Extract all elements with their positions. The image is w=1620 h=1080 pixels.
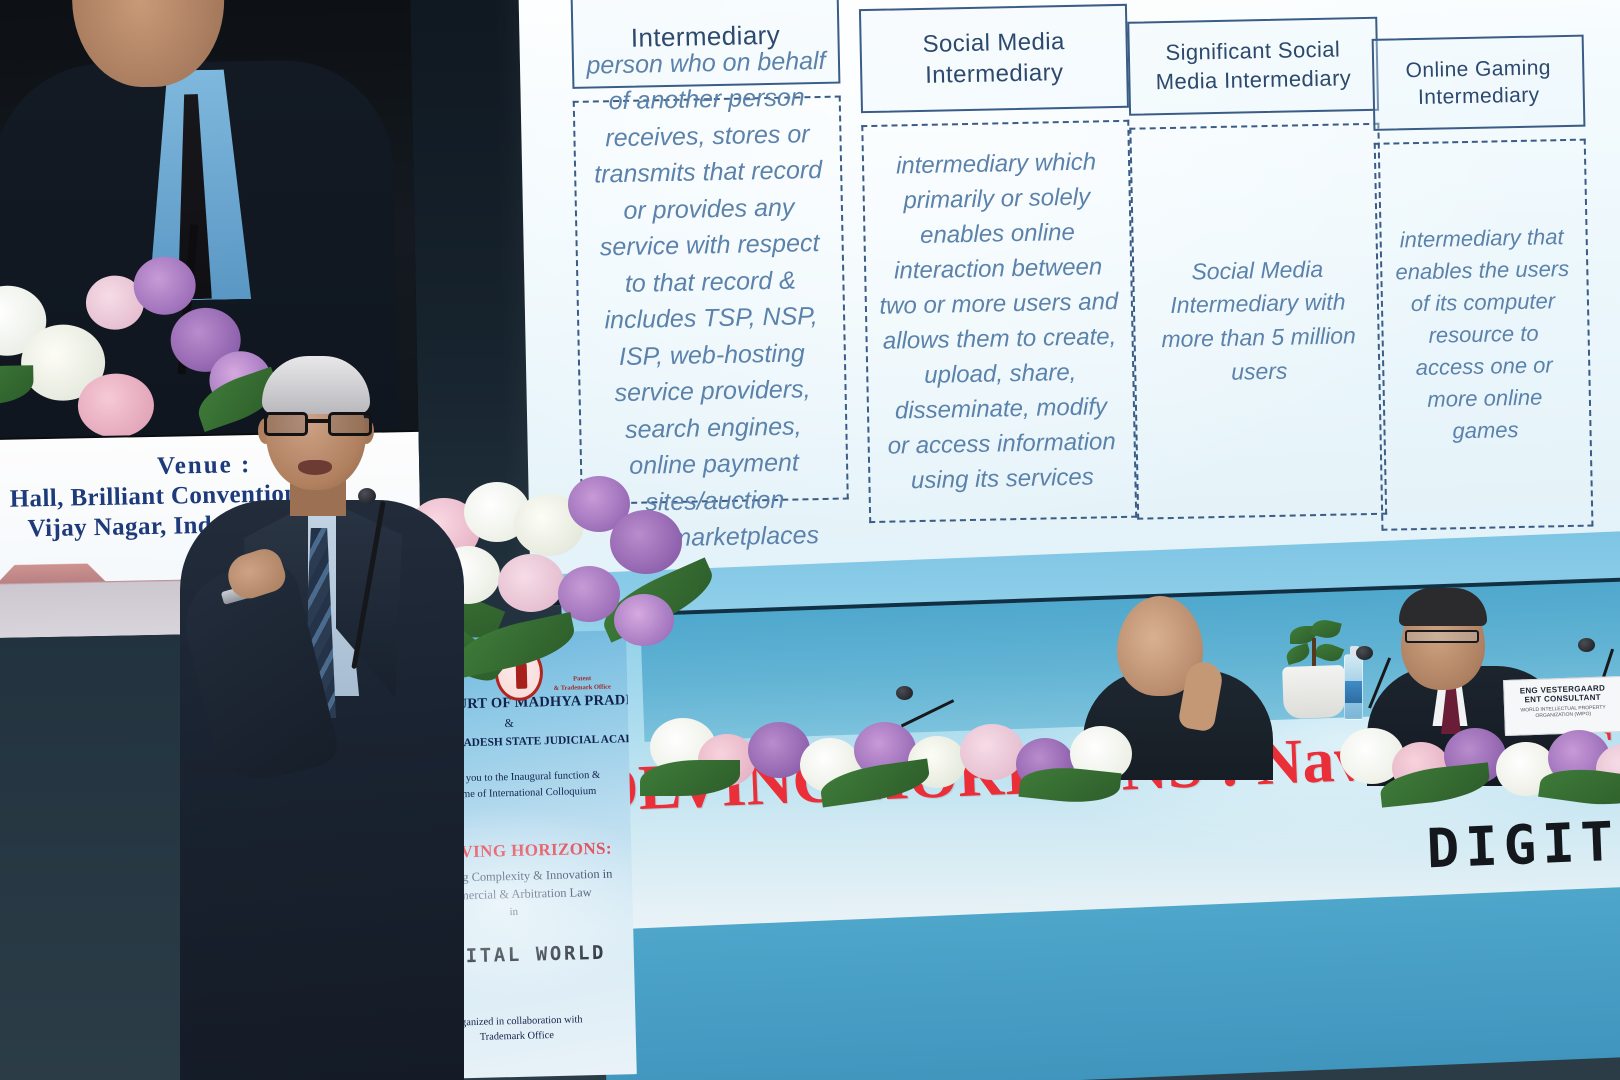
slide-content: Intermediary person who on behalf of ano… [570, 0, 1591, 539]
dais-guest-left [1095, 596, 1295, 756]
glasses-lens-left [264, 412, 308, 436]
dais-guest-right [1375, 592, 1585, 762]
slide-column-intermediary: Intermediary person who on behalf of ano… [571, 0, 849, 505]
category-definition-significant-social-media-intermediary: Social Media Intermediary with more than… [1129, 123, 1387, 520]
projection-screen: Intermediary person who on behalf of ano… [518, 0, 1620, 606]
microphone-icon [1578, 638, 1595, 652]
speaker-mouth [298, 460, 332, 475]
microphone-icon [1356, 646, 1373, 660]
glasses-icon [1405, 630, 1479, 643]
speaker-hair [262, 356, 370, 414]
backdrop-digital-word: DIGITA [1425, 808, 1620, 880]
conference-photo: Intermediary person who on behalf of ano… [0, 0, 1620, 1080]
slide-column-social-media-intermediary: Social Media Intermediary intermediary w… [859, 4, 1137, 523]
microphone-icon [896, 686, 913, 700]
potted-plant-foliage [1286, 620, 1344, 672]
glasses-icon [262, 412, 374, 438]
microphone-icon [358, 488, 376, 504]
speaker-at-podium [170, 356, 470, 1080]
category-definition-online-gaming-intermediary: intermediary that enables the users of i… [1374, 139, 1594, 531]
water-bottle [1344, 654, 1363, 720]
category-title-significant-social-media-intermediary: Significant Social Media Intermediary [1127, 17, 1379, 116]
category-definition-intermediary: person who on behalf of another person r… [573, 96, 849, 505]
flower-pot [1282, 665, 1346, 719]
slide-column-online-gaming-intermediary: Online Gaming Intermediary intermediary … [1372, 35, 1594, 531]
name-placard: ENG VESTERGAARD ENT CONSULTANT WORLD INT… [1503, 676, 1620, 736]
glasses-bridge [308, 419, 328, 423]
category-title-online-gaming-intermediary: Online Gaming Intermediary [1372, 35, 1586, 131]
bottle-label [1345, 681, 1362, 703]
category-definition-social-media-intermediary: intermediary which primarily or solely e… [861, 120, 1137, 523]
slide-column-significant-social-media-intermediary: Significant Social Media Intermediary So… [1127, 17, 1387, 520]
category-title-social-media-intermediary: Social Media Intermediary [859, 4, 1129, 113]
guest-right-hair [1399, 588, 1487, 626]
glasses-lens-right [328, 412, 372, 436]
placard-sub-line: WORLD INTELLECTUAL PROPERTY ORGANIZATION… [1509, 704, 1617, 720]
